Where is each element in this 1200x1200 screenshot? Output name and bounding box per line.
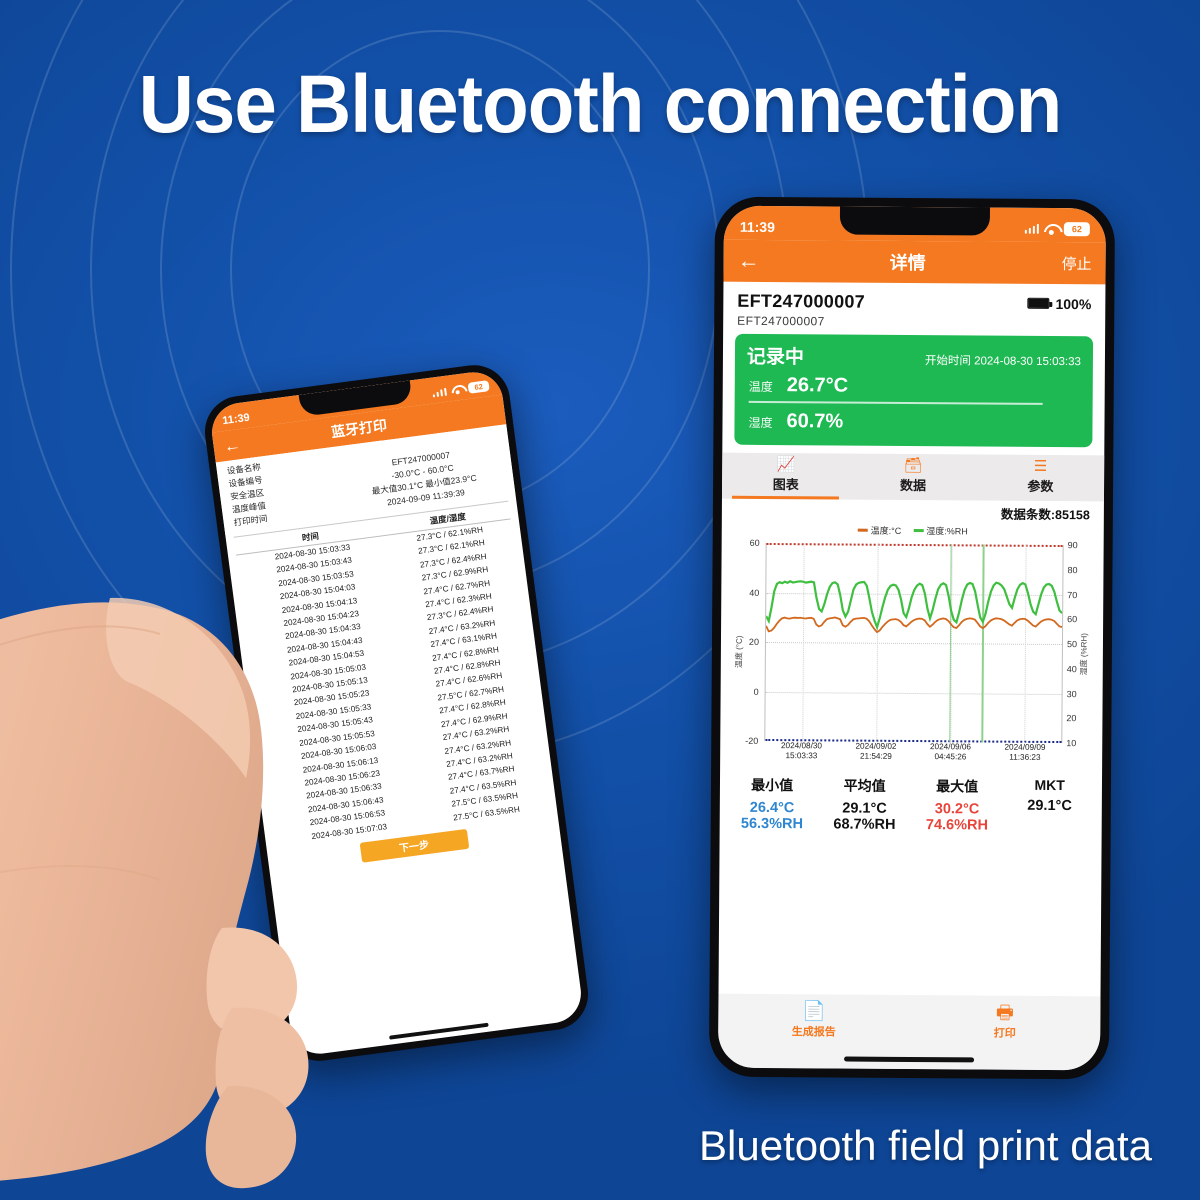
home-indicator [844,1057,974,1063]
y-tick-left: 40 [739,587,759,597]
poster-headline: Use Bluetooth connection [42,58,1158,152]
humidity-label: 湿度 [748,414,772,431]
temperature-label: 温度 [749,378,773,395]
back-arrow-icon[interactable]: ← [223,435,245,454]
data-icon: 🗃 [849,458,976,475]
page-title: 详情 [764,248,1052,276]
legend-item-0: 温度:°C [858,524,902,537]
status-time: 11:39 [222,411,251,426]
battery-icon: 62 [1064,222,1090,236]
phone-right-detail-screen: 11:39 62 ← 详情 停止 EFT247000007 100% EFT24… [709,197,1115,1080]
chart-legend: 温度:°C湿度:%RH [728,523,1098,539]
legend-swatch [913,529,923,532]
tab-bar: 📈 图表 🗃 数据 ☰ 参数 [722,453,1104,502]
print-label: 打印 [909,1024,1100,1041]
stat-label: MKT [1003,777,1096,794]
stat-temperature: 26.4°C [726,800,819,817]
device-header-row: EFT247000007 100% [723,282,1105,317]
wifi-icon [1044,223,1059,234]
legend-label: 湿度:%RH [926,524,968,537]
battery-icon: 62 [468,380,490,394]
chart-icon: 📈 [722,457,849,474]
device-id: EFT247000007 [737,291,865,313]
device-battery-icon [1027,298,1049,309]
stat-0: 最小值26.4°C56.3%RH [726,775,819,833]
stat-1: 平均值29.1°C68.7%RH [818,775,911,833]
chart-container: 温度:°C湿度:%RH 温度 (°C) 湿度 (%RH) 6040200-20 … [720,521,1104,770]
chart-plot-area: 温度 (°C) 湿度 (%RH) 6040200-20 908070605040… [726,537,1098,770]
wifi-icon [451,385,464,395]
stat-2: 最大值30.2°C74.6%RH [911,776,1004,834]
printer-icon: 🖶 [909,1003,1100,1024]
y-tick-right: 60 [1067,614,1087,624]
back-arrow-icon[interactable]: ← [738,250,764,272]
humidity-value: 60.7% [786,410,843,433]
y-tick-left: -20 [738,736,758,746]
tab-chart-label: 图表 [722,474,849,494]
right-nav-bar: ← 详情 停止 [723,240,1105,285]
y-tick-right: 20 [1066,713,1086,723]
x-tick-label: 2024/09/0221:54:29 [855,742,896,762]
y-tick-left: 60 [740,538,760,548]
stat-label: 平均值 [818,775,911,796]
stat-3: MKT29.1°C [1003,777,1096,835]
device-battery-percent: 100% [1055,295,1091,311]
temperature-value: 26.7°C [787,374,849,397]
y-tick-right: 70 [1067,590,1087,600]
print-button[interactable]: 🖶 打印 [909,1003,1100,1041]
table-body: 2024-08-30 15:03:3327.3°C / 62.1%RH2024-… [236,519,549,848]
stat-humidity: 56.3%RH [726,816,819,833]
x-tick-label: 2024/08/3015:03:33 [781,741,822,761]
y-tick-right: 50 [1067,639,1087,649]
record-count: 数据条数:85158 [722,499,1104,524]
legend-swatch [858,529,868,532]
tab-data-label: 数据 [849,475,976,495]
stop-button[interactable]: 停止 [1052,252,1092,273]
x-tick-label: 2024/09/0604:45:26 [930,742,971,762]
signal-bars-icon [1024,224,1039,234]
chart-lines [764,543,1063,743]
legend-item-1: 湿度:%RH [913,524,968,537]
status-time: 11:39 [740,219,775,235]
generate-report-button[interactable]: 📄 生成报告 [718,1002,909,1040]
y-tick-right: 30 [1067,689,1087,699]
stat-label: 最大值 [911,776,1004,797]
poster-caption: Bluetooth field print data [699,1122,1152,1170]
x-tick-label: 2024/09/0911:36:23 [1004,743,1045,763]
y-tick-right: 90 [1068,540,1088,550]
home-indicator [389,1023,489,1040]
start-time-label: 开始时间 [925,355,971,367]
device-sub-id: EFT247000007 [723,314,1105,337]
x-axis-ticks: 2024/08/3015:03:332024/09/0221:54:292024… [764,741,1062,769]
signal-bars-icon [432,387,447,397]
series-line-1 [766,581,1062,628]
stat-humidity: 68.7%RH [818,816,911,833]
phone-notch [840,206,990,235]
stat-humidity: 74.6%RH [911,817,1004,834]
recording-status-card: 记录中 开始时间 2024-08-30 15:03:33 温度 26.7°C 湿… [734,334,1093,447]
recording-status-title: 记录中 [747,342,804,369]
report-document-icon: 📄 [718,1002,909,1023]
y-tick-right: 40 [1067,664,1087,674]
stat-temperature: 30.2°C [911,801,1004,818]
stat-temperature: 29.1°C [1003,798,1096,815]
statistics-row: 最小值26.4°C56.3%RH平均值29.1°C68.7%RH最大值30.2°… [720,767,1102,841]
tab-parameters-label: 参数 [977,475,1104,495]
series-line-0 [766,617,1062,634]
chart-series-svg [765,543,1062,743]
parameters-icon: ☰ [977,458,1104,475]
y-tick-right: 80 [1067,565,1087,575]
generate-report-label: 生成报告 [718,1023,909,1040]
print-data-table: 时间 温度/湿度 2024-08-30 15:03:3327.3°C / 62.… [226,501,561,875]
stat-label: 最小值 [726,775,819,796]
y-tick-left: 20 [739,637,759,647]
start-time-value: 2024-08-30 15:03:33 [974,355,1081,368]
y-tick-left: 0 [739,686,759,696]
y-tick-right: 10 [1066,738,1086,748]
tab-chart[interactable]: 📈 图表 [722,453,850,500]
stat-temperature: 29.1°C [818,800,911,817]
tab-parameters[interactable]: ☰ 参数 [977,454,1105,501]
bottom-action-bar: 📄 生成报告 🖶 打印 [718,994,1101,1071]
legend-label: 温度:°C [871,524,902,537]
tab-data[interactable]: 🗃 数据 [849,454,977,501]
